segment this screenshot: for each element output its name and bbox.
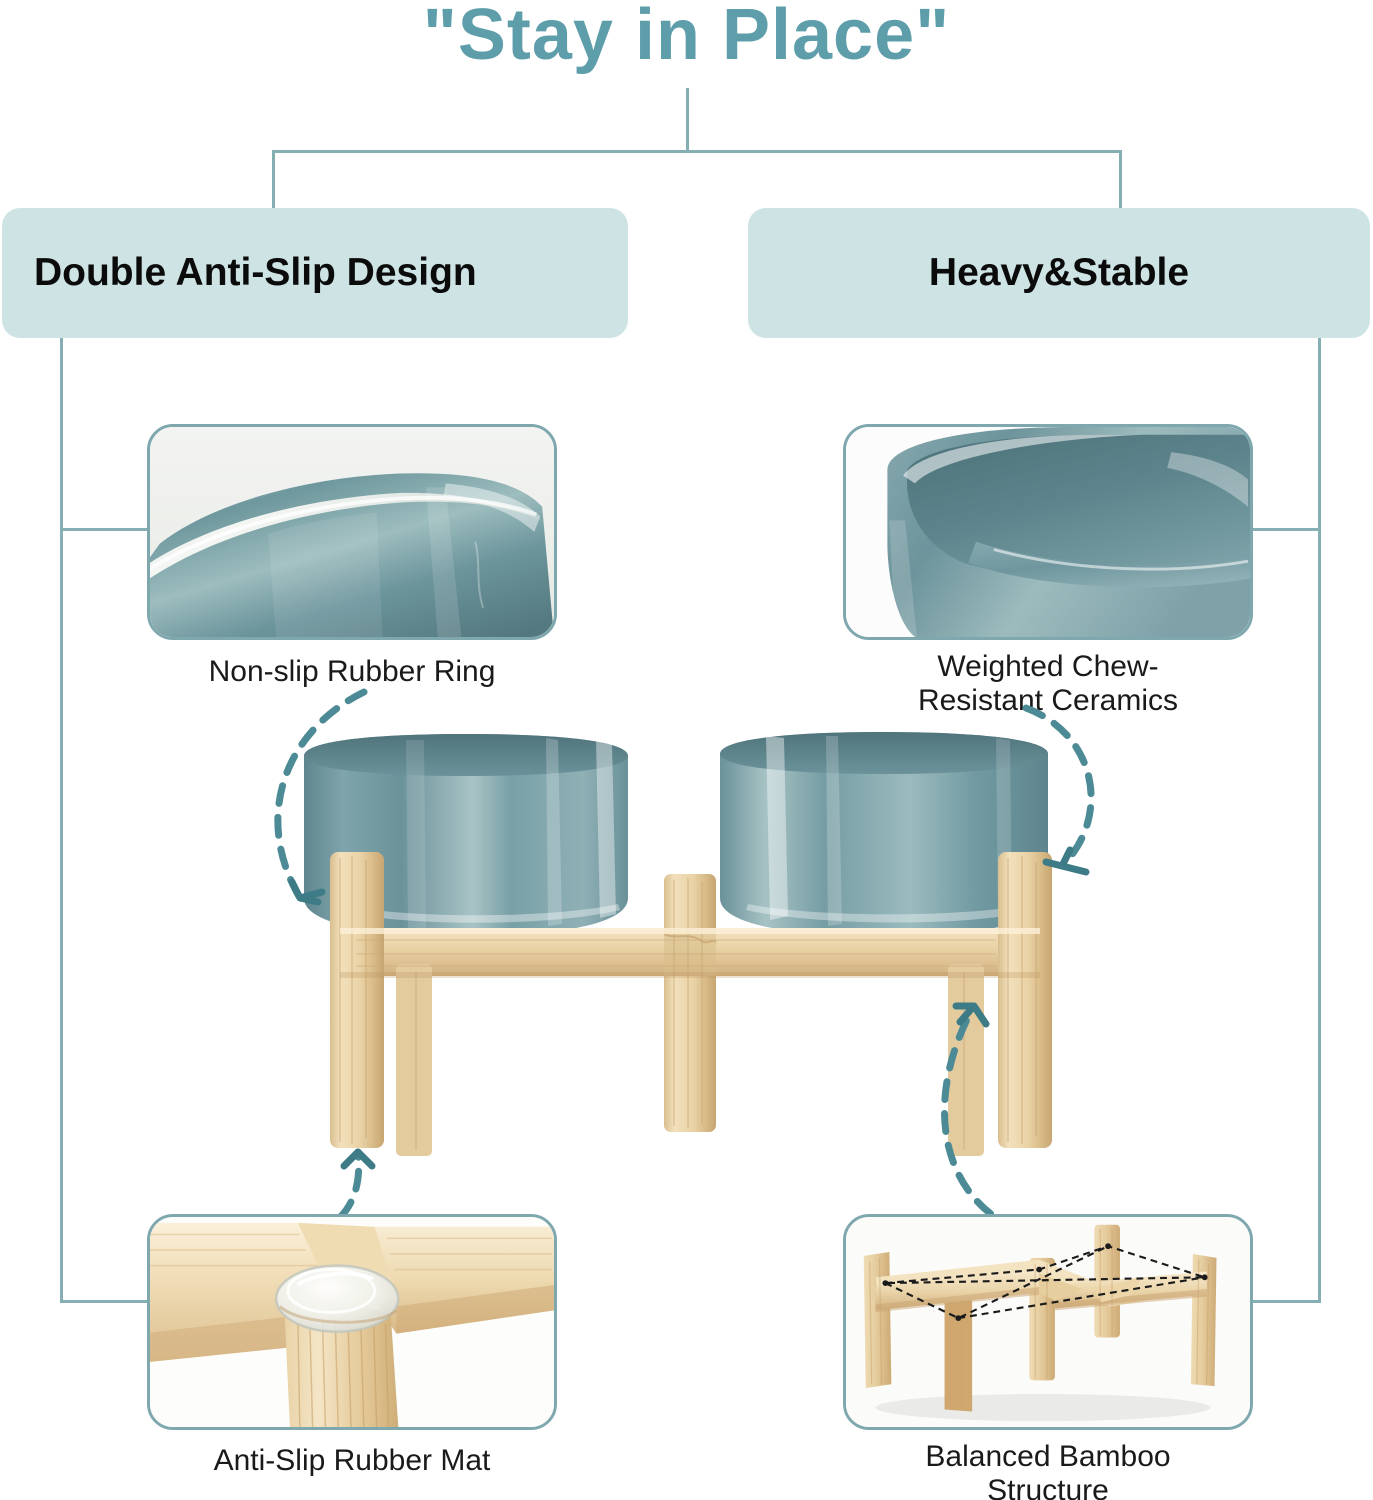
caption-balanced-bamboo-structure: Balanced Bamboo Structure (838, 1440, 1258, 1500)
bowl-base-rubber-ring-photo (147, 424, 557, 640)
dashed-arrow-to-bowl-base (246, 686, 446, 936)
top-bracket-drop-left (272, 150, 275, 210)
bamboo-stand-structure-photo (843, 1214, 1253, 1430)
caption-text-line1: Weighted Chew- (838, 650, 1258, 684)
caption-text: Anti-Slip Rubber Mat (214, 1444, 491, 1477)
left-rail-line (60, 338, 63, 1303)
caption-text-line1: Balanced Bamboo (838, 1440, 1258, 1474)
infographic-canvas: "Stay in Place" Double Anti-Slip Design … (0, 0, 1373, 1500)
dashed-arrow-to-bowl-body (1000, 700, 1160, 890)
heading-double-anti-slip-design: Double Anti-Slip Design (2, 208, 628, 338)
title-stem-line (686, 88, 689, 152)
right-rail-line (1318, 338, 1321, 1303)
heading-heavy-and-stable: Heavy&Stable (748, 208, 1370, 338)
bamboo-leg-rubber-pad-photo (147, 1214, 557, 1430)
caption-text-line2: Structure (838, 1474, 1258, 1500)
right-branch-line-top (1250, 528, 1321, 531)
bowl-interior-ceramic-photo (843, 424, 1253, 640)
top-bracket-bar (272, 150, 1122, 153)
caption-anti-slip-rubber-mat: Anti-Slip Rubber Mat (137, 1444, 567, 1478)
page-title: "Stay in Place" (0, 0, 1373, 76)
right-branch-line-bottom (1250, 1300, 1321, 1303)
top-bracket-drop-right (1119, 150, 1122, 210)
left-branch-line-top (60, 528, 150, 531)
left-branch-line-bottom (60, 1300, 150, 1303)
caption-non-slip-rubber-ring: Non-slip Rubber Ring (137, 655, 567, 689)
caption-text: Non-slip Rubber Ring (209, 655, 496, 688)
dashed-arrow-to-stand-leg (900, 960, 1110, 1235)
